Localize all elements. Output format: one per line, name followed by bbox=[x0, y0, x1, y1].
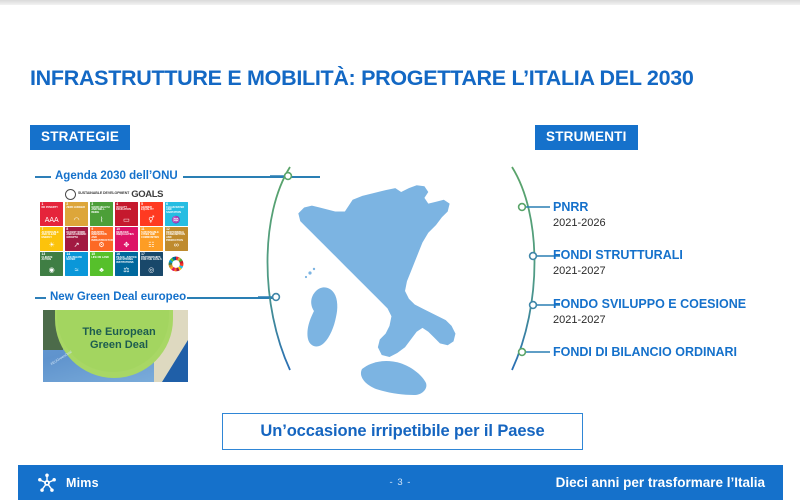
sdg-tile-3: 3GOOD HEALTH AND WELL-BEING⌇ bbox=[90, 202, 113, 226]
sdg-tile-8: 8DECENT WORK AND ECONOMIC GROWTH↗ bbox=[65, 227, 88, 251]
key-message-banner: Un’occasione irripetibile per il Paese bbox=[222, 413, 583, 450]
sdg-tile-5: 5GENDER EQUALITY⚥ bbox=[140, 202, 163, 226]
sdg-tile-title: RESPONSIBLE CONSUMPTION AND PRODUCTION bbox=[166, 232, 187, 243]
sdg-tile-2: 2ZERO HUNGER◠ bbox=[65, 202, 88, 226]
instrument-name: FONDI STRUTTURALI bbox=[553, 249, 683, 263]
sdg-tile-pictogram: ≈ bbox=[75, 267, 79, 274]
slide-left-margin bbox=[0, 5, 6, 500]
sdg-poster-header: SUSTAINABLE DEVELOPMENT GOALS bbox=[40, 188, 188, 200]
sdg-header-subtitle: SUSTAINABLE DEVELOPMENT bbox=[78, 192, 129, 196]
sdg-tile-pictogram: ♒ bbox=[172, 217, 181, 224]
sdg-tile-13: 13CLIMATE ACTION◉ bbox=[40, 252, 63, 276]
section-badge-strumenti: STRUMENTI bbox=[535, 125, 638, 150]
sdg-tile-4: 4QUALITY EDUCATION▭ bbox=[115, 202, 138, 226]
sdg-tile-pictogram: AAA bbox=[45, 217, 59, 224]
sdg-tile-pictogram: ♣ bbox=[99, 267, 104, 274]
sdg-tile-1: 1NO POVERTYAAA bbox=[40, 202, 63, 226]
sdg-tile-16: 16PEACE, JUSTICE AND STRONG INSTITUTIONS… bbox=[115, 252, 138, 276]
node-right-fondi-bilancio[interactable] bbox=[519, 349, 526, 356]
instrument-fondo-sviluppo-coesione: FONDO SVILUPPO E COESIONE 2021-2027 bbox=[553, 298, 746, 326]
instrument-years: 2021-2027 bbox=[553, 265, 683, 277]
sdg-tile-9: 9INDUSTRY, INNOVATION AND INFRASTRUCTURE… bbox=[90, 227, 113, 251]
instrument-name: FONDO SVILUPPO E COESIONE bbox=[553, 298, 746, 312]
node-left-green-deal[interactable] bbox=[273, 294, 280, 301]
sdg-tile-12: 12RESPONSIBLE CONSUMPTION AND PRODUCTION… bbox=[165, 227, 188, 251]
sdg-tile-15: 15LIFE ON LAND♣ bbox=[90, 252, 113, 276]
gd-caption: The European Green Deal bbox=[63, 326, 175, 353]
strategy-label-agenda: Agenda 2030 dell’ONU bbox=[55, 170, 178, 182]
un-emblem-icon bbox=[65, 189, 76, 200]
sdg-tile-title: AFFORDABLE AND CLEAN ENERGY bbox=[42, 232, 63, 240]
node-right-fondo-sviluppo[interactable] bbox=[530, 302, 537, 309]
sdg-tile-pictogram: ◠ bbox=[74, 217, 80, 224]
sdg-tile-title: GOOD HEALTH AND WELL-BEING bbox=[91, 207, 112, 215]
key-message-text: Un’occasione irripetibile per il Paese bbox=[260, 422, 544, 441]
sdg-tile-title: PEACE, JUSTICE AND STRONG INSTITUTIONS bbox=[116, 257, 137, 265]
sdg-tile-pictogram: ↗ bbox=[74, 242, 80, 249]
sdg-tile-title: SUSTAINABLE CITIES AND COMMUNITIES bbox=[141, 232, 162, 240]
instrument-fondi-bilancio-ordinari: FONDI DI BILANCIO ORDINARI bbox=[553, 346, 737, 362]
instrument-years: 2021-2027 bbox=[553, 314, 746, 326]
sdg-tile-title: LIFE ON LAND bbox=[91, 257, 112, 260]
sdg-tile-title: INDUSTRY, INNOVATION AND INFRASTRUCTURE bbox=[91, 232, 112, 243]
sdg-tile-title: CLEAN WATER AND SANITATION bbox=[166, 207, 187, 215]
sdg-poster: SUSTAINABLE DEVELOPMENT GOALS 1NO POVERT… bbox=[40, 188, 188, 280]
sdg-tile-17: 17PARTNERSHIPS FOR THE GOALS◎ bbox=[140, 252, 163, 276]
instrument-name: PNRR bbox=[553, 201, 606, 215]
sdg-tile-pictogram: ▭ bbox=[123, 217, 130, 224]
sdg-tile-pictogram: ☷ bbox=[148, 242, 154, 249]
sdg-tile-title: PARTNERSHIPS FOR THE GOALS bbox=[141, 257, 162, 262]
sdg-tile-title: GENDER EQUALITY bbox=[141, 207, 162, 212]
sdg-tile-title: DECENT WORK AND ECONOMIC GROWTH bbox=[66, 232, 87, 240]
sdg-tile-title: REDUCED INEQUALITIES bbox=[116, 232, 137, 237]
arc-right bbox=[512, 167, 535, 370]
sdg-tile-title: QUALITY EDUCATION bbox=[116, 207, 137, 212]
gd-caption-line2: Green Deal bbox=[90, 339, 148, 351]
sdg-tile-10: 10REDUCED INEQUALITIES✥ bbox=[115, 227, 138, 251]
sdg-tile-pictogram: ⚙ bbox=[98, 242, 104, 249]
instrument-years: 2021-2026 bbox=[553, 217, 606, 229]
sdg-tile-grid: 1NO POVERTYAAA2ZERO HUNGER◠3GOOD HEALTH … bbox=[40, 202, 188, 276]
slide-footer: Mims - 3 - Dieci anni per trasformare l’… bbox=[18, 465, 783, 500]
viewer-top-edge bbox=[0, 0, 800, 5]
sdg-tile-title: LIFE BELOW WATER bbox=[66, 257, 87, 262]
slide-canvas: INFRASTRUTTURE E MOBILITÀ: PROGETTARE L’… bbox=[0, 0, 800, 500]
footer-tagline: Dieci anni per trasformare l’Italia bbox=[556, 475, 765, 490]
sdg-tile-pictogram: ☀ bbox=[49, 242, 55, 249]
sdg-tile-title: CLIMATE ACTION bbox=[42, 257, 63, 262]
gd-caption-line1: The European bbox=[82, 326, 155, 338]
sdg-wheel-icon bbox=[165, 252, 188, 276]
arc-left bbox=[268, 167, 291, 370]
page-title: INFRASTRUTTURE E MOBILITÀ: PROGETTARE L’… bbox=[30, 66, 694, 91]
dash-agenda-left bbox=[35, 176, 51, 178]
sdg-tile-pictogram: ✥ bbox=[124, 242, 130, 249]
slide-right-margin bbox=[790, 5, 800, 500]
node-right-fondi-strutturali[interactable] bbox=[530, 253, 537, 260]
sdg-tile-pictogram: ∞ bbox=[174, 242, 179, 249]
sdg-tile-pictogram: ◎ bbox=[148, 267, 154, 274]
instrument-fondi-strutturali: FONDI STRUTTURALI 2021-2027 bbox=[553, 249, 683, 277]
node-left-agenda[interactable] bbox=[285, 173, 292, 180]
instrument-pnrr: PNRR 2021-2026 bbox=[553, 201, 606, 229]
italy-diagram bbox=[250, 155, 560, 415]
sdg-tile-pictogram: ⌇ bbox=[100, 217, 103, 224]
sdg-tile-pictogram: ⚖ bbox=[123, 267, 129, 274]
sdg-tile-title: NO POVERTY bbox=[42, 207, 63, 210]
italy-map bbox=[298, 185, 455, 395]
sdg-tile-11: 11SUSTAINABLE CITIES AND COMMUNITIES☷ bbox=[140, 227, 163, 251]
dash-greendeal-left bbox=[35, 297, 46, 299]
sdg-tile-pictogram: ◉ bbox=[49, 267, 55, 274]
sdg-wheel-ring bbox=[169, 257, 184, 272]
sdg-tile-title: ZERO HUNGER bbox=[66, 207, 87, 210]
sdg-tile-pictogram: ⚥ bbox=[148, 217, 154, 224]
european-green-deal-image: #EUGreenDeal The European Green Deal bbox=[43, 310, 188, 382]
sdg-tile-6: 6CLEAN WATER AND SANITATION♒ bbox=[165, 202, 188, 226]
sdg-tile-14: 14LIFE BELOW WATER≈ bbox=[65, 252, 88, 276]
strategy-label-green-deal: New Green Deal europeo bbox=[50, 291, 186, 303]
instrument-name: FONDI DI BILANCIO ORDINARI bbox=[553, 346, 737, 360]
sdg-header-goals: GOALS bbox=[131, 189, 163, 200]
node-right-pnrr[interactable] bbox=[519, 204, 526, 211]
section-badge-strategie: STRATEGIE bbox=[30, 125, 130, 150]
sdg-tile-7: 7AFFORDABLE AND CLEAN ENERGY☀ bbox=[40, 227, 63, 251]
